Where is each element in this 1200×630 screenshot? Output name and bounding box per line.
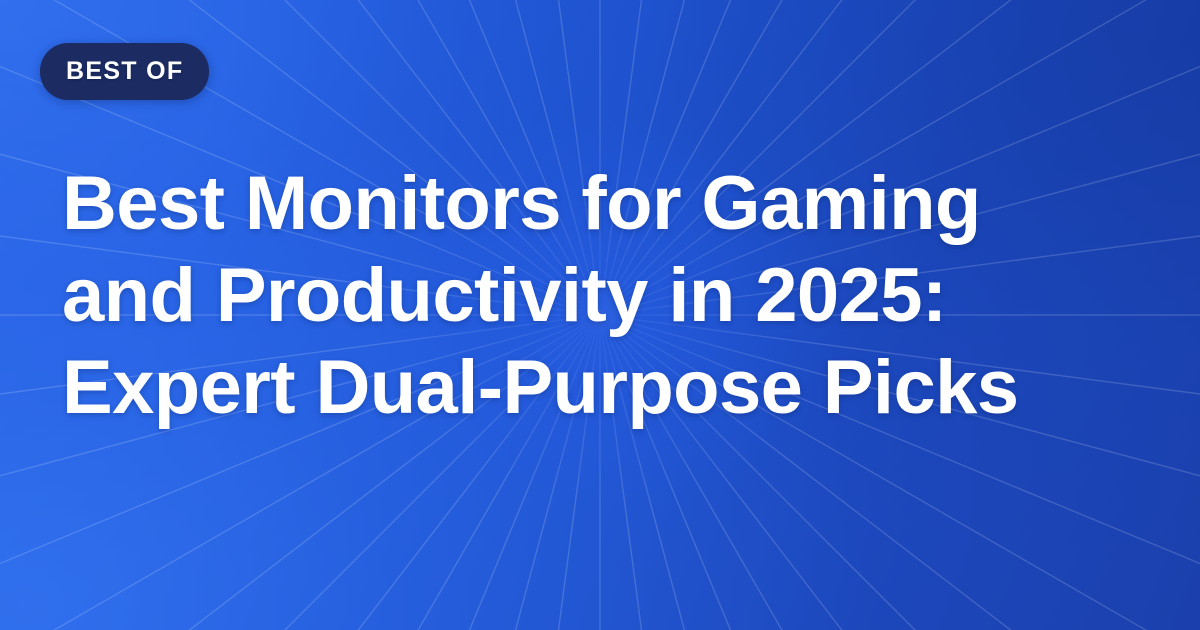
best-of-badge[interactable]: BEST OF [40, 43, 209, 100]
headline-line-3: Expert Dual-Purpose Picks [62, 342, 1152, 434]
headline: Best Monitors for Gaming and Productivit… [62, 158, 1152, 434]
headline-line-1: Best Monitors for Gaming [62, 158, 1152, 250]
headline-line-2: and Productivity in 2025: [62, 250, 1152, 342]
best-of-badge-label: BEST OF [66, 59, 183, 84]
social-share-card: BEST OF Best Monitors for Gaming and Pro… [0, 0, 1200, 630]
